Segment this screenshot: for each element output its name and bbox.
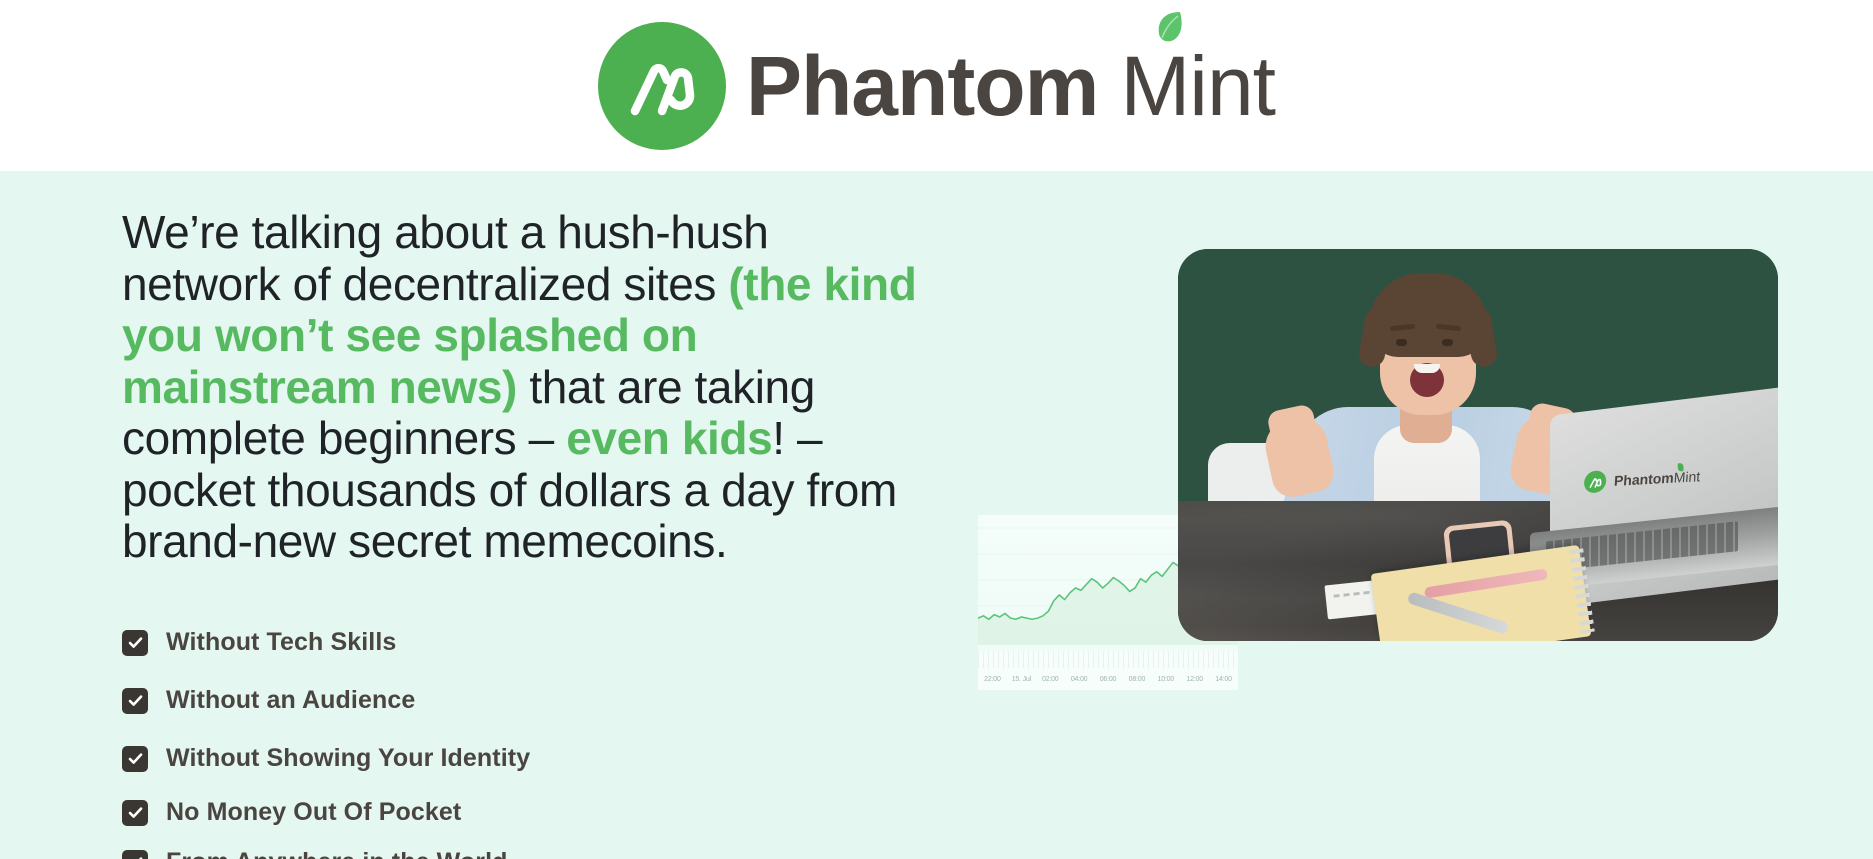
chart-tick-label: 22:00 <box>978 676 1007 683</box>
laptop-brand-light: Mint <box>1673 468 1701 485</box>
list-item: Without Tech Skills <box>122 614 932 672</box>
chart-tick-label: 10:00 <box>1151 676 1180 683</box>
list-item: Without an Audience <box>122 672 932 730</box>
chart-tick-label: 15. Jul <box>1007 676 1036 683</box>
checkbox-checked-icon <box>122 746 148 772</box>
checklist-label: From Anywhere in the World <box>166 848 508 859</box>
chart-tick-label: 12:00 <box>1180 676 1209 683</box>
leaf-icon <box>1156 10 1182 44</box>
chart-tick-labels: 22:00 15. Jul 02:00 04:00 06:00 08:00 10… <box>978 669 1238 689</box>
laptop-brand-text: PhantomMint <box>1614 468 1701 489</box>
brand-name-light-text: Mint <box>1120 39 1275 133</box>
headline-part-1: We’re talking about a hush-hush network … <box>122 206 769 310</box>
checklist-label: Without Tech Skills <box>166 628 396 657</box>
person-hair <box>1368 273 1488 357</box>
checklist-label: Without an Audience <box>166 686 415 715</box>
checkbox-checked-icon <box>122 850 148 859</box>
chart-tick-label: 04:00 <box>1065 676 1094 683</box>
person-eye-right <box>1442 339 1453 346</box>
list-item: No Money Out Of Pocket <box>122 788 932 838</box>
chart-tick-label: 02:00 <box>1036 676 1065 683</box>
chart-tick-marks <box>978 651 1238 668</box>
person-eye-left <box>1396 339 1407 346</box>
chart-tick-label: 08:00 <box>1122 676 1151 683</box>
headline-accent-2: even kids <box>566 412 772 464</box>
brand-name-bold: Phantom <box>746 44 1098 128</box>
hero-section: We’re talking about a hush-hush network … <box>0 171 1873 859</box>
brand-name-light: Mint <box>1120 44 1275 128</box>
checkbox-checked-icon <box>122 688 148 714</box>
laptop-brand-logo: PhantomMint <box>1583 465 1701 493</box>
phantom-mint-logomark-icon <box>598 22 726 150</box>
benefits-checklist: Without Tech Skills Without an Audience <box>122 614 932 859</box>
checklist-label: Without Showing Your Identity <box>166 744 530 773</box>
chart-tick-label: 06:00 <box>1094 676 1123 683</box>
brand-wordmark: Phantom Mint <box>746 44 1275 128</box>
hero-photo: PhantomMint <box>1178 249 1778 641</box>
list-item: Without Showing Your Identity <box>122 730 932 788</box>
laptop-leaf-icon <box>1678 463 1685 471</box>
laptop-logomark-icon <box>1583 470 1606 493</box>
checkbox-checked-icon <box>122 800 148 826</box>
hero-headline: We’re talking about a hush-hush network … <box>122 207 932 568</box>
brand-logo[interactable]: Phantom Mint <box>598 22 1275 150</box>
chart-tick-label: 14:00 <box>1209 676 1238 683</box>
checklist-label: No Money Out Of Pocket <box>166 798 461 827</box>
laptop-brand-bold: Phantom <box>1614 470 1675 489</box>
site-header: Phantom Mint <box>0 0 1873 171</box>
person-mouth <box>1410 363 1444 397</box>
hero-copy-column: We’re talking about a hush-hush network … <box>122 207 932 859</box>
chart-x-axis: 22:00 15. Jul 02:00 04:00 06:00 08:00 10… <box>978 651 1238 690</box>
list-item: From Anywhere in the World <box>122 838 932 859</box>
page-root: Phantom Mint We’re talking about a hush-… <box>0 0 1873 859</box>
checkbox-checked-icon <box>122 630 148 656</box>
